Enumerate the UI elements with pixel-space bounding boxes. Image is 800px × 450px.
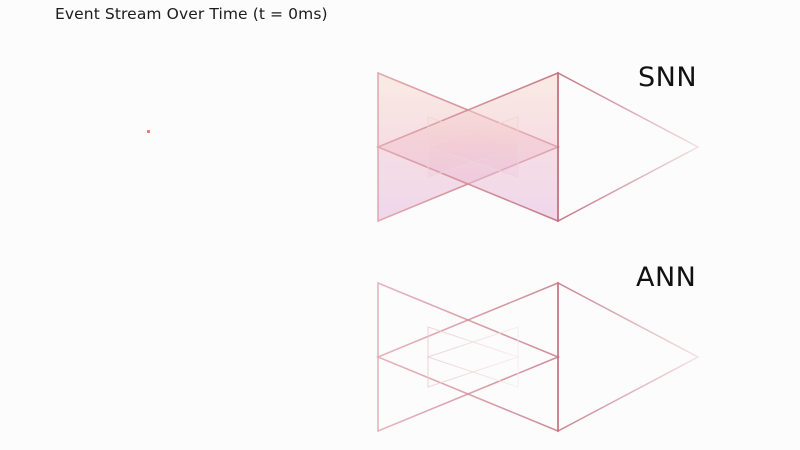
ann-outer-left-triangle [378, 283, 558, 431]
ann-inner-right-triangle [428, 327, 518, 387]
row-snn-glyph [378, 73, 698, 221]
ann-outer-tail-triangle [558, 283, 698, 431]
row-label-ann: ANN [636, 262, 696, 293]
snn-outer-tail-triangle [558, 73, 698, 221]
ann-outer-right-triangle [378, 283, 558, 431]
ann-inner-left-triangle [428, 327, 518, 387]
diagram-canvas: Event Stream Over Time (t = 0ms) [0, 0, 800, 450]
row-label-snn: SNN [638, 62, 697, 93]
row-ann-glyph [378, 283, 698, 431]
